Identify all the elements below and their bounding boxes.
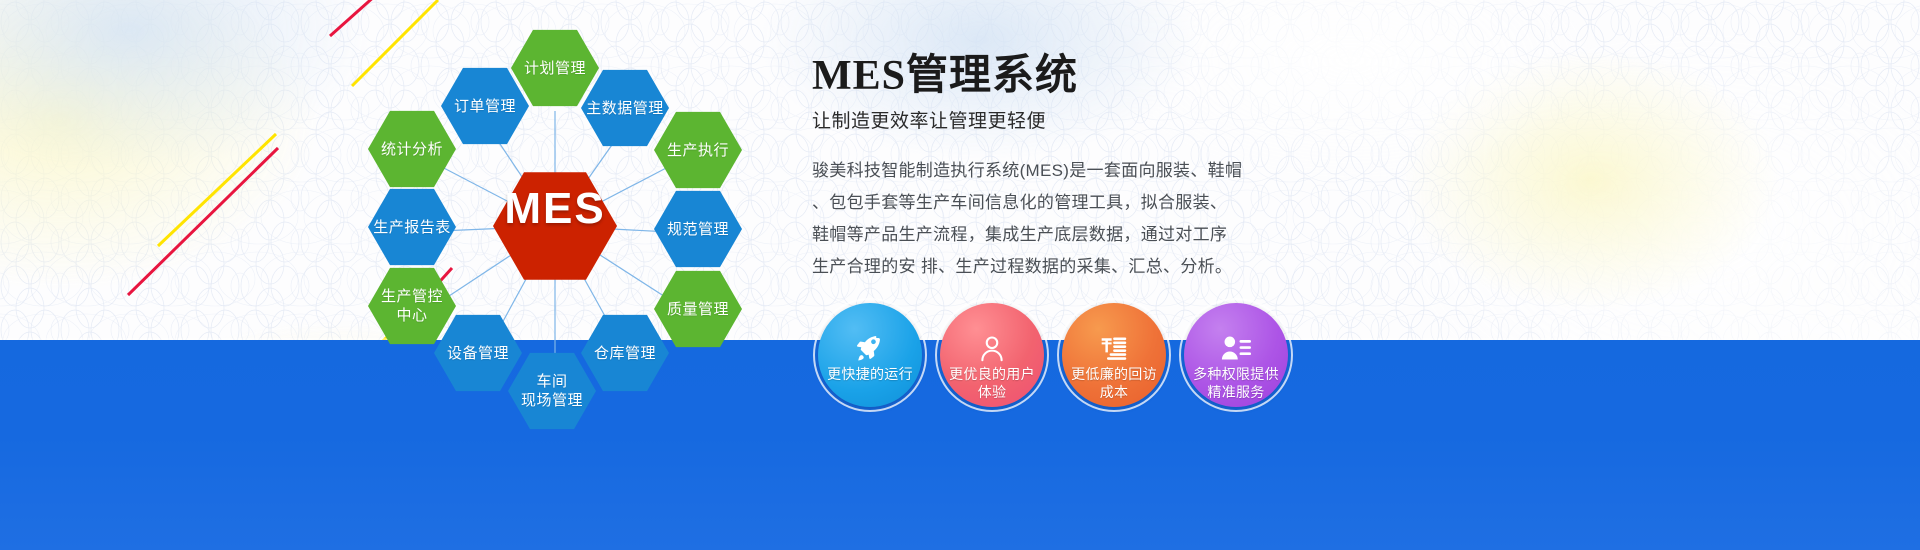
banner-stage: MES计划管理订单管理统计分析生产报告表生产管控 中心设备管理车间 现场管理仓库… [0, 0, 1920, 550]
hexagon-node[interactable] [581, 315, 669, 391]
hexagon-node[interactable] [368, 111, 456, 187]
hexagon-node[interactable] [434, 315, 522, 391]
hexagon-node[interactable] [368, 268, 456, 344]
page-title: MES管理系统 [812, 52, 1282, 100]
badge-faster-operation[interactable]: 更快捷的运行 [818, 303, 922, 407]
mes-honeycomb-diagram: MES计划管理订单管理统计分析生产报告表生产管控 中心设备管理车间 现场管理仓库… [330, 16, 800, 436]
hexagon-center[interactable] [493, 172, 617, 279]
badge-ring [1057, 298, 1171, 412]
paragraph-line: 生产合理的安 排、生产过程数据的采集、汇总、分析。 [812, 251, 1282, 283]
hexagon-shapes [368, 30, 742, 429]
paragraph-line: 、包包手套等生产车间信息化的管理工具，拟合服装、 [812, 187, 1282, 219]
text-column: MES管理系统 让制造更效率让管理更轻便 骏美科技智能制造执行系统(MES)是一… [812, 52, 1282, 283]
badge-ring [1179, 298, 1293, 412]
feature-badges: 更快捷的运行 更优良的用户 体验 [818, 303, 1288, 403]
paragraph-line: 骏美科技智能制造执行系统(MES)是一套面向服装、鞋帽 [812, 155, 1282, 187]
page-subtitle: 让制造更效率让管理更轻便 [812, 106, 1282, 133]
badge-lower-cost[interactable]: 更低廉的回访 成本 [1062, 303, 1166, 407]
badge-permissions[interactable]: 多种权限提供 精准服务 [1184, 303, 1288, 407]
description-paragraph: 骏美科技智能制造执行系统(MES)是一套面向服装、鞋帽、包包手套等生产车间信息化… [812, 155, 1282, 283]
badge-ring [813, 298, 927, 412]
hexagon-node[interactable] [368, 189, 456, 265]
hexagon-node[interactable] [581, 70, 669, 146]
honeycomb-svg [330, 16, 800, 436]
hexagon-node[interactable] [441, 68, 529, 144]
badge-better-experience[interactable]: 更优良的用户 体验 [940, 303, 1044, 407]
hexagon-node[interactable] [654, 112, 742, 188]
hexagon-node[interactable] [654, 191, 742, 267]
badge-ring [935, 298, 1049, 412]
hexagon-node[interactable] [508, 353, 596, 429]
paragraph-line: 鞋帽等产品生产流程，集成生产底层数据，通过对工序 [812, 219, 1282, 251]
hexagon-node[interactable] [654, 271, 742, 347]
hexagon-node[interactable] [511, 30, 599, 106]
